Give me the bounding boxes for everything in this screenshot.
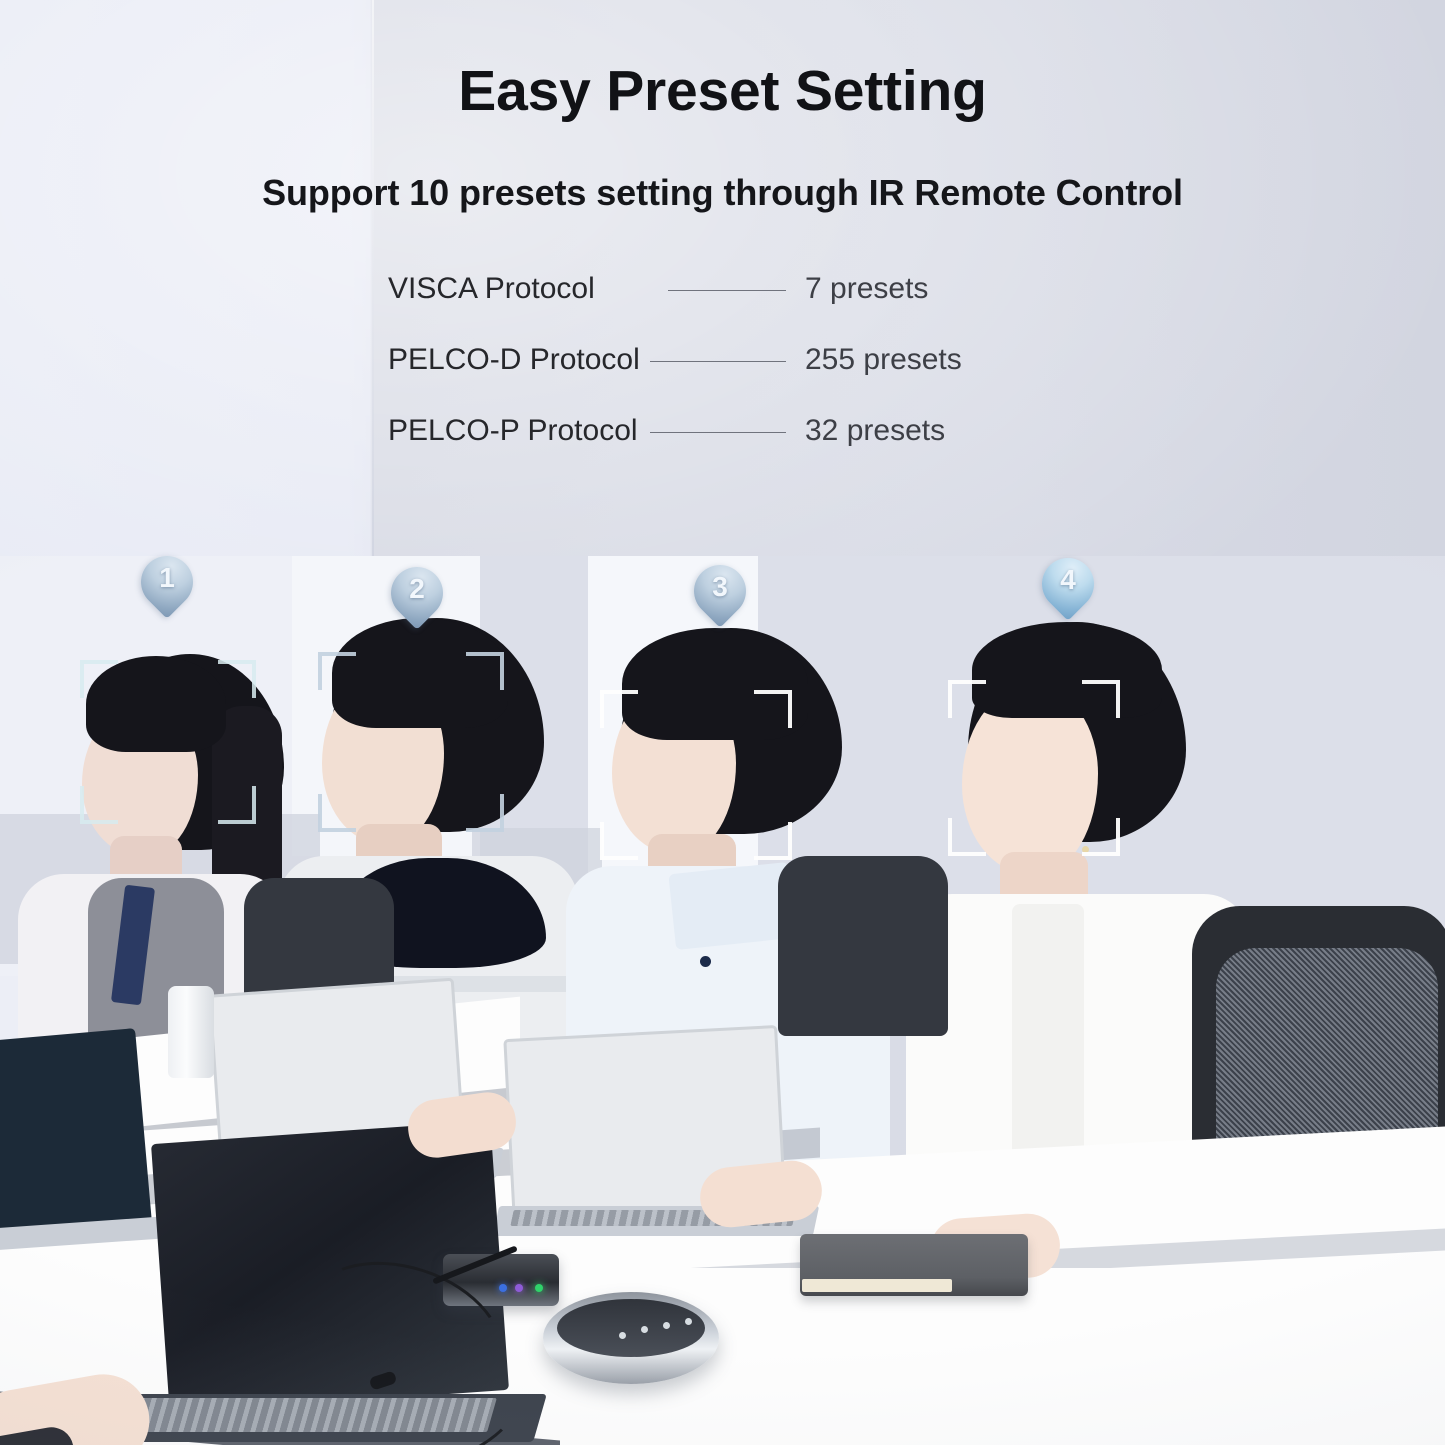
bracket-bottom-right xyxy=(218,786,256,824)
bracket-bottom-right xyxy=(1082,818,1120,856)
bracket-top-left xyxy=(80,660,118,698)
chair-back-mid xyxy=(778,856,948,1036)
speakerphone-key-2 xyxy=(641,1326,648,1333)
preset-pin-label: 3 xyxy=(694,571,746,603)
laptop-screen-far-left xyxy=(0,1028,152,1244)
conference-speakerphone xyxy=(543,1292,719,1384)
speakerphone-top xyxy=(557,1299,705,1357)
face-track-frame-1 xyxy=(80,660,256,824)
page-subtitle: Support 10 presets setting through IR Re… xyxy=(0,172,1445,214)
bracket-top-left xyxy=(318,652,356,690)
preset-pin-label: 2 xyxy=(391,573,443,605)
protocol-preset-count: 7 presets xyxy=(805,272,928,306)
speakerphone-key-1 xyxy=(619,1332,626,1339)
protocol-name: PELCO-P Protocol xyxy=(388,414,638,448)
bracket-top-right xyxy=(218,660,256,698)
bracket-top-right xyxy=(1082,680,1120,718)
shirt-button-1 xyxy=(700,956,711,967)
protocol-preset-count: 32 presets xyxy=(805,414,945,448)
bracket-bottom-right xyxy=(754,822,792,860)
speakerphone-key-4 xyxy=(685,1318,692,1325)
water-bottle xyxy=(168,986,214,1078)
face-track-frame-4 xyxy=(948,680,1120,856)
preset-pin-label: 1 xyxy=(141,562,193,594)
preset-pin-3: 3 xyxy=(694,565,746,639)
preset-pin-4: 4 xyxy=(1042,558,1094,632)
page-title: Easy Preset Setting xyxy=(0,58,1445,124)
protocol-row: PELCO-D Protocol 255 presets xyxy=(388,343,1028,414)
bracket-top-right xyxy=(754,690,792,728)
bracket-top-left xyxy=(600,690,638,728)
preset-pin-1: 1 xyxy=(141,556,193,630)
protocol-name: VISCA Protocol xyxy=(388,272,595,306)
protocol-name: PELCO-D Protocol xyxy=(388,343,640,377)
protocol-list: VISCA Protocol 7 presets PELCO-D Protoco… xyxy=(388,272,1028,485)
bracket-bottom-right xyxy=(466,794,504,832)
protocol-row: PELCO-P Protocol 32 presets xyxy=(388,414,1028,485)
bracket-bottom-left xyxy=(80,786,118,824)
bracket-bottom-left xyxy=(948,818,986,856)
preset-pin-label: 4 xyxy=(1042,564,1094,596)
face-track-frame-3 xyxy=(600,690,792,860)
connector-line xyxy=(650,432,786,433)
bracket-top-left xyxy=(948,680,986,718)
bracket-bottom-left xyxy=(318,794,356,832)
led-indicator-1 xyxy=(499,1284,507,1292)
connector-line xyxy=(650,361,786,362)
bracket-top-right xyxy=(466,652,504,690)
infographic-root: Easy Preset Setting Support 10 presets s… xyxy=(0,0,1445,1445)
protocol-preset-count: 255 presets xyxy=(805,343,962,377)
notebook-pages xyxy=(802,1279,952,1292)
bracket-bottom-left xyxy=(600,822,638,860)
shirt-collar xyxy=(668,862,795,950)
connector-line xyxy=(668,290,786,291)
led-indicator-3 xyxy=(535,1284,543,1292)
speakerphone-key-3 xyxy=(663,1322,670,1329)
protocol-row: VISCA Protocol 7 presets xyxy=(388,272,1028,343)
led-indicator-2 xyxy=(515,1284,523,1292)
notebook xyxy=(800,1234,1028,1296)
face-track-frame-2 xyxy=(318,652,504,832)
preset-pin-2: 2 xyxy=(391,567,443,641)
conference-room-photo xyxy=(0,556,1445,1445)
